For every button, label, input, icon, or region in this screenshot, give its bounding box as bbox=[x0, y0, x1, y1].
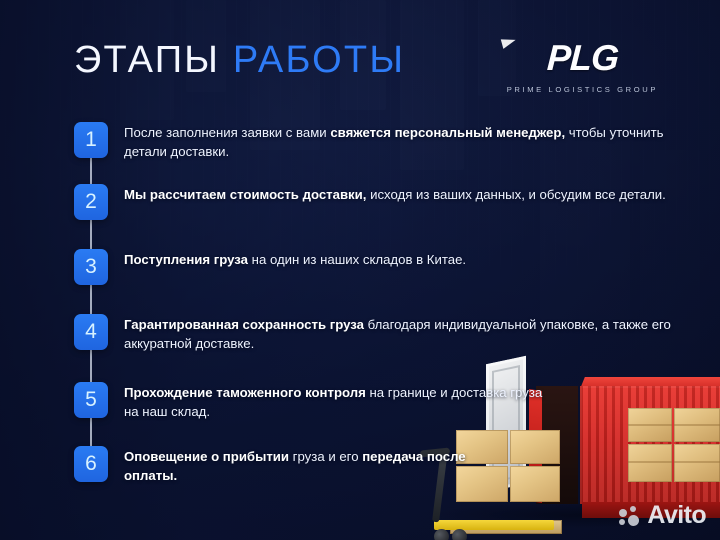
logo-tagline: PRIME LOGISTICS GROUP bbox=[507, 85, 658, 94]
step-badge-column: 5 bbox=[74, 382, 124, 418]
step-connector-line bbox=[90, 285, 92, 314]
step-text-tail: исходя из ваших данных, и обсудим все де… bbox=[366, 187, 665, 202]
title-word-stages: ЭТАПЫ bbox=[74, 39, 220, 81]
step-number-badge: 2 bbox=[74, 184, 108, 220]
step-text-lead: После заполнения заявки с вами bbox=[124, 125, 330, 140]
pallet-jack-wheel bbox=[434, 529, 449, 540]
avito-logo-icon bbox=[619, 506, 641, 526]
step-connector-line bbox=[90, 158, 92, 184]
step-number-badge: 6 bbox=[74, 446, 108, 482]
step-badge-column: 2 bbox=[74, 184, 124, 220]
step-text: Гарантированная сохранность груза благод… bbox=[124, 314, 674, 353]
step-item: 1 После заполнения заявки с вами свяжетс… bbox=[74, 122, 674, 184]
step-number-badge: 5 bbox=[74, 382, 108, 418]
step-item: 2 Мы рассчитаем стоимость доставки, исхо… bbox=[74, 184, 674, 249]
logo-text: PLG bbox=[546, 37, 619, 78]
step-text-highlight: Поступления груза bbox=[124, 252, 248, 267]
step-text-tail: на один из наших складов в Китае. bbox=[248, 252, 466, 267]
logo-mark-plg: PLG bbox=[506, 40, 659, 76]
step-badge-column: 4 bbox=[74, 314, 124, 350]
step-text-highlight: Прохождение таможенного контроля bbox=[124, 385, 366, 400]
step-connector-line bbox=[90, 418, 92, 446]
step-item: 5 Прохождение таможенного контроля на гр… bbox=[74, 382, 674, 446]
step-item: 3 Поступления груза на один из наших скл… bbox=[74, 249, 674, 314]
avito-wordmark: Avito bbox=[647, 503, 706, 528]
step-text: Мы рассчитаем стоимость доставки, исходя… bbox=[124, 184, 666, 205]
pallet-jack-wheel bbox=[452, 529, 467, 540]
step-text-highlight: свяжется персональный менеджер, bbox=[330, 125, 565, 140]
step-item: 6 Оповещение о прибытии груза и его пере… bbox=[74, 446, 674, 496]
stacked-box bbox=[674, 408, 720, 442]
step-number-badge: 1 bbox=[74, 122, 108, 158]
step-text: После заполнения заявки с вами свяжется … bbox=[124, 122, 672, 161]
pallet-jack-fork bbox=[434, 520, 554, 530]
step-text: Оповещение о прибытии груза и его переда… bbox=[124, 446, 484, 485]
step-text-highlight: Мы рассчитаем стоимость доставки, bbox=[124, 187, 366, 202]
step-text-highlight: Гарантированная сохранность груза bbox=[124, 317, 364, 332]
step-badge-column: 1 bbox=[74, 122, 124, 158]
page-title: ЭТАПЫ РАБОТЫ bbox=[74, 41, 405, 79]
step-number-badge: 3 bbox=[74, 249, 108, 285]
title-word-work: РАБОТЫ bbox=[233, 39, 405, 81]
step-connector-line bbox=[90, 350, 92, 382]
step-text: Прохождение таможенного контроля на гран… bbox=[124, 382, 544, 421]
brand-logo[interactable]: PLG PRIME LOGISTICS GROUP bbox=[507, 40, 658, 94]
step-text-tail: груза и его bbox=[289, 449, 362, 464]
step-badge-column: 3 bbox=[74, 249, 124, 285]
step-text-highlight: Оповещение о прибытии bbox=[124, 449, 289, 464]
stacked-box bbox=[674, 444, 720, 482]
step-connector-line bbox=[90, 220, 92, 249]
steps-list: 1 После заполнения заявки с вами свяжетс… bbox=[74, 122, 674, 496]
step-text: Поступления груза на один из наших склад… bbox=[124, 249, 466, 270]
promo-poster: ЭТАПЫ РАБОТЫ PLG PRIME LOGISTICS GROUP 1… bbox=[0, 0, 720, 540]
avito-watermark: Avito bbox=[619, 503, 706, 528]
step-number-badge: 4 bbox=[74, 314, 108, 350]
step-item: 4 Гарантированная сохранность груза благ… bbox=[74, 314, 674, 382]
step-badge-column: 6 bbox=[74, 446, 124, 482]
